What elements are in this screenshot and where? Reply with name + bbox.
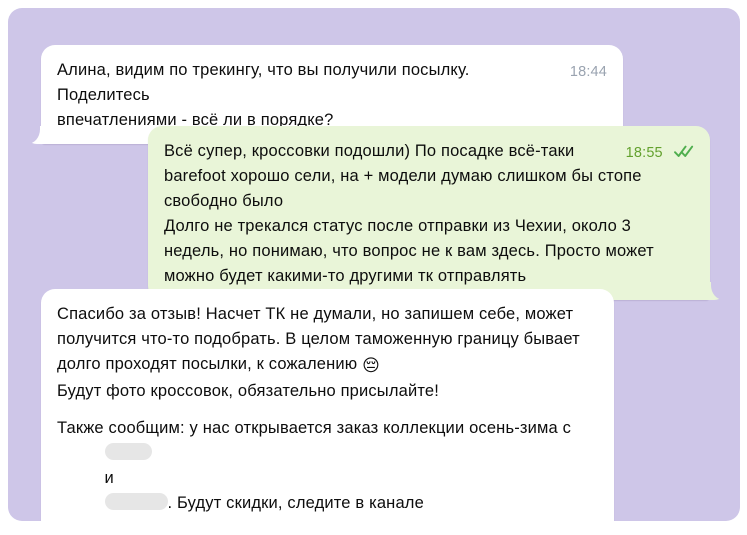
message-text-3-paragraph-2: Будут фото кроссовок, обязательно присыл…: [57, 379, 598, 404]
message-list[interactable]: 18:44 Алина, видим по трекингу, что вы п…: [8, 8, 740, 521]
redacted-brand-2: [105, 493, 168, 510]
pensive-face-emoji: 😔: [362, 356, 380, 376]
chat-canvas: 18:44 Алина, видим по трекингу, что вы п…: [8, 8, 740, 521]
paragraph-2-head: Долго не трекался статус после отправки …: [164, 217, 654, 260]
message-bubble-incoming-2[interactable]: Спасибо за отзыв! Насчет ТК не думали, н…: [41, 289, 614, 521]
message-text-1: Алина, видим по трекингу, что вы получил…: [57, 58, 607, 133]
message-text-3-paragraph-3: Также сообщим: у нас открывается заказ к…: [57, 416, 598, 521]
message-bubble-outgoing-1[interactable]: 18:55 Всё супер, кроссовки подошли) По п…: [148, 126, 710, 300]
message-timestamp: 18:44: [570, 64, 607, 80]
paragraph-3-mid: и: [105, 469, 114, 487]
paragraph-spacer: [57, 404, 598, 416]
paragraph-1-body: Спасибо за отзыв! Насчет ТК не думали, н…: [57, 305, 585, 373]
redacted-brand-1: [105, 443, 152, 460]
double-check-icon: [674, 144, 694, 164]
message-timestamp: 18:55: [626, 145, 663, 161]
bubble-tail-right: [706, 282, 719, 300]
message-text-3-paragraph-1: Спасибо за отзыв! Насчет ТК не думали, н…: [57, 302, 598, 379]
paragraph-2-tail: можно будет какими-то другими тк отправл…: [164, 267, 526, 285]
paragraph-3-tail: . Будут скидки, следите в канале: [168, 494, 424, 512]
message-text-2-paragraph-1: Всё супер, кроссовки подошли) По посадке…: [164, 139, 694, 214]
bubble-tail-left: [32, 126, 45, 144]
message-meta-2: 18:55: [626, 143, 694, 164]
message-meta-1: 18:44: [570, 62, 607, 82]
message-text-2-paragraph-2: Долго не трекался статус после отправки …: [164, 214, 694, 289]
paragraph-3-head: Также сообщим: у нас открывается заказ к…: [57, 419, 571, 437]
chat-screen: 18:44 Алина, видим по трекингу, что вы п…: [0, 0, 747, 535]
